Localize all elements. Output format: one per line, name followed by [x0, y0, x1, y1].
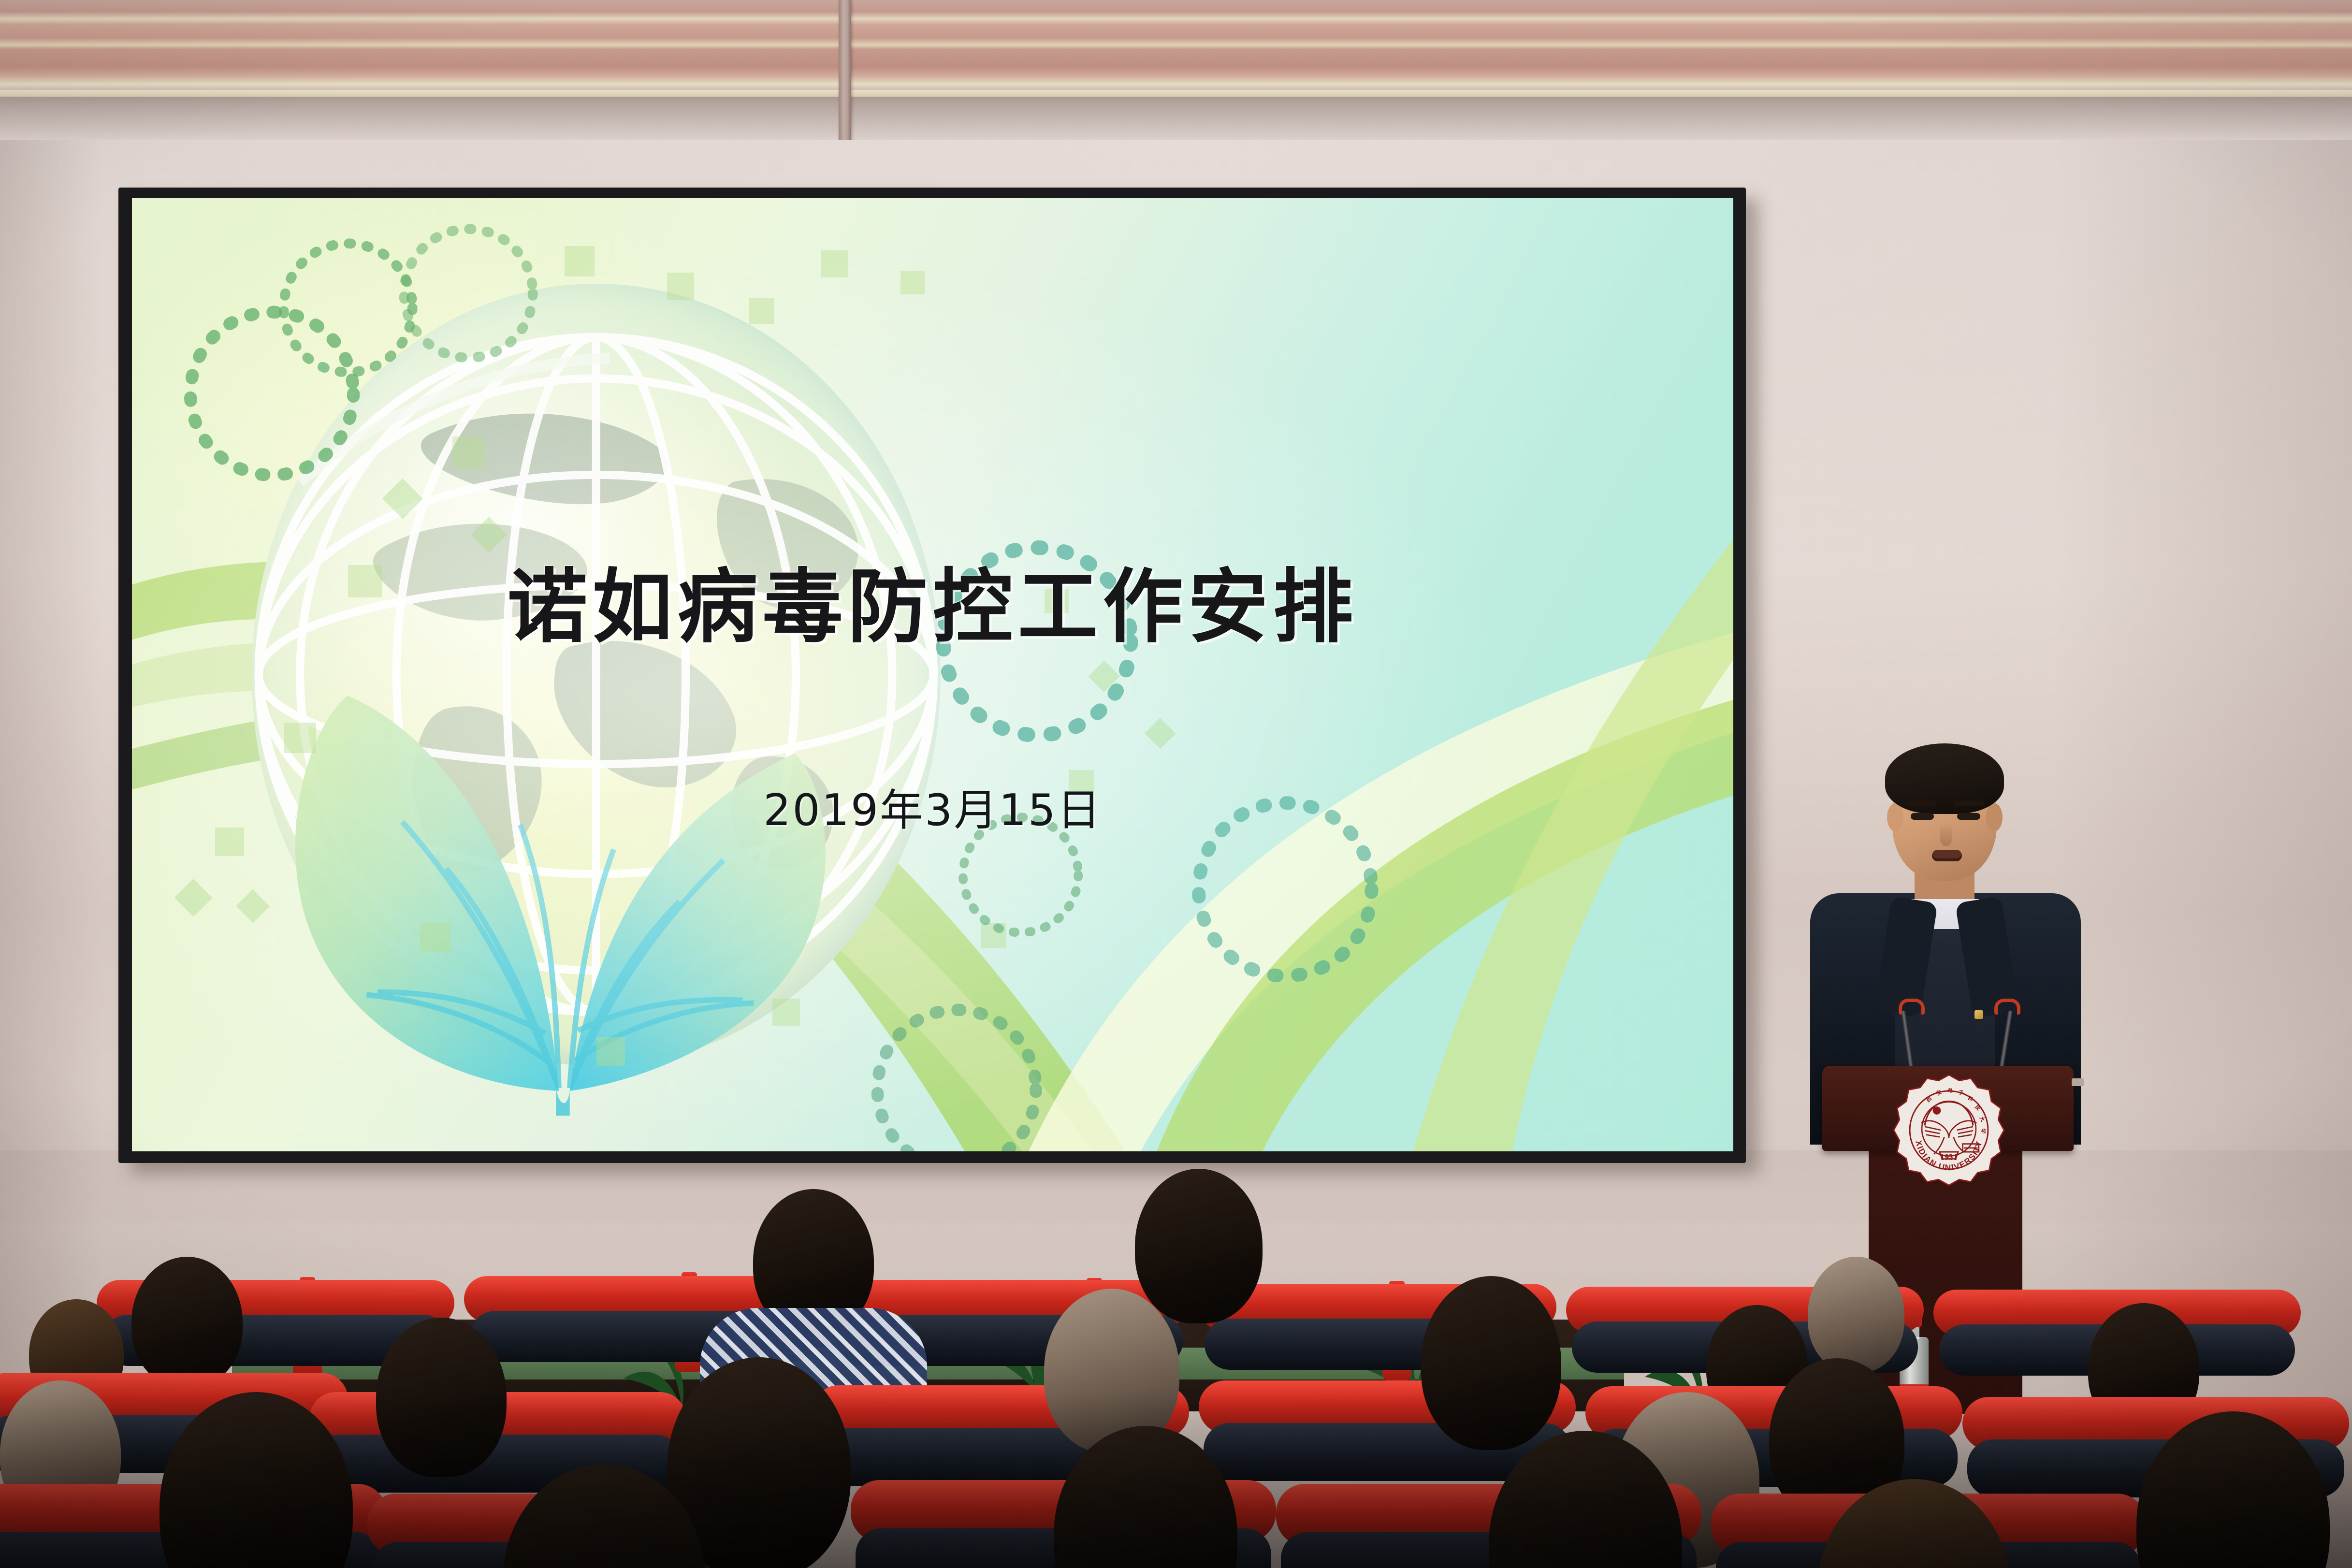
- slide-square: [900, 271, 925, 294]
- ceiling-trim: [0, 90, 2352, 97]
- speaker-eyebrow-left: [1907, 800, 1937, 806]
- slide-dotted-circle: [396, 222, 540, 365]
- speaker-nose: [1940, 823, 1952, 846]
- speaker-lapel-pin: [1975, 1010, 1983, 1019]
- audience-head: [1808, 1257, 1904, 1373]
- speaker-ear-left: [1887, 803, 1903, 831]
- slide-dotted-circle: [869, 999, 1045, 1151]
- slide-square: [749, 298, 774, 324]
- speaker-eyebrow-right: [1954, 800, 1984, 806]
- slide-square: [667, 273, 694, 300]
- speaker-ear-right: [1986, 803, 2003, 831]
- speaker-mouth: [1932, 850, 1962, 861]
- slide-date: 2019年3月15日: [132, 775, 1733, 838]
- projection-screen-surface: 诺如病毒防控工作安排 2019年3月15日: [132, 198, 1733, 1151]
- microphone-head-right[interactable]: [1994, 999, 2020, 1015]
- svg-text:电: 电: [1947, 1087, 1953, 1094]
- slide-square: [565, 246, 595, 276]
- slide-square: [772, 999, 799, 1025]
- speaker-hair: [1885, 743, 2004, 814]
- slide-title: 诺如病毒防控工作安排: [132, 541, 1733, 658]
- podium-side-bracket: [2072, 1078, 2084, 1086]
- speaker-eye-left: [1911, 813, 1934, 820]
- slide-square: [452, 436, 484, 468]
- slide-square: [596, 1037, 625, 1065]
- projection-screen-frame: 诺如病毒防控工作安排 2019年3月15日: [118, 188, 1746, 1163]
- microphone-head-left[interactable]: [1899, 999, 1925, 1015]
- svg-text:1931: 1931: [1940, 1152, 1958, 1162]
- slide-square: [821, 250, 848, 277]
- audience-head: [1421, 1276, 1561, 1450]
- slide-square: [284, 723, 316, 753]
- audience-head: [131, 1257, 243, 1387]
- audience-head: [376, 1318, 507, 1477]
- xidian-university-emblem: 1931 西 安 电 子 科 技 大 学 XIDIAN UNIVERSITY: [1891, 1073, 2006, 1188]
- ceiling-shadow: [0, 97, 2352, 140]
- slide-square: [420, 923, 450, 952]
- speaker-eye-right: [1957, 813, 1980, 820]
- lecture-hall-scene: 诺如病毒防控工作安排 2019年3月15日: [0, 0, 2352, 1568]
- audience-head: [1135, 1169, 1263, 1323]
